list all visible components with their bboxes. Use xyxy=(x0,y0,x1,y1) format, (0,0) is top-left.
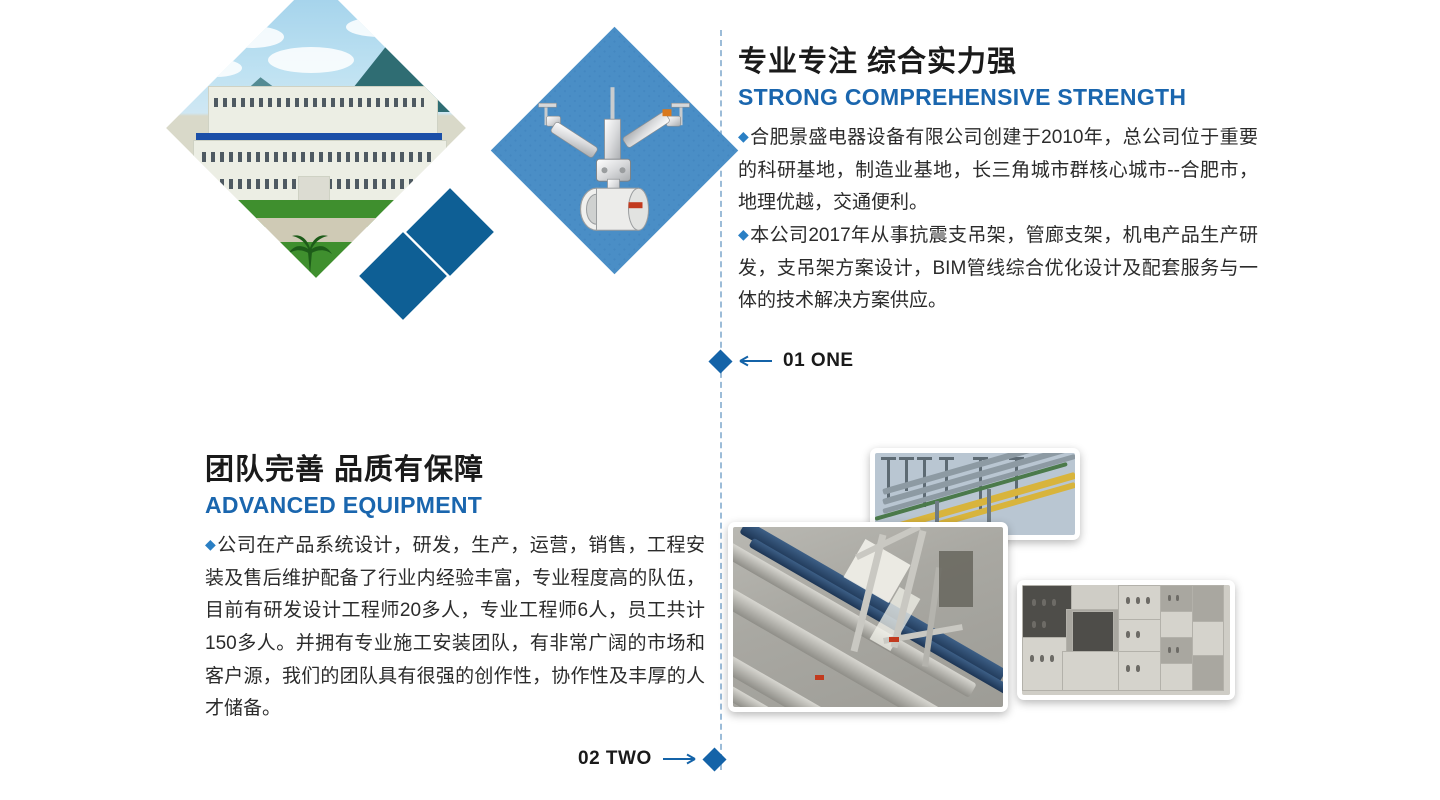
collage-photo-left xyxy=(728,522,1008,712)
section-one-paragraph-1: ◆合肥景盛电器设备有限公司创建于2010年，总公司位于重要的科研基地，制造业基地… xyxy=(738,122,1258,220)
section-one-title-cn: 专业专注 综合实力强 xyxy=(738,44,1258,80)
section-one-text: 专业专注 综合实力强 STRONG COMPREHENSIVE STRENGTH… xyxy=(738,44,1258,318)
poster-canvas: 专业专注 综合实力强 STRONG COMPREHENSIVE STRENGTH… xyxy=(0,0,1440,800)
arrow-left-icon xyxy=(739,355,773,367)
section-two-text: 团队完善 品质有保障 ADVANCED EQUIPMENT ◆公司在产品系统设计… xyxy=(205,452,705,726)
step-marker-two[interactable]: 02 TWO xyxy=(578,748,723,770)
section-two-paragraph-1: ◆公司在产品系统设计，研发，生产，运营，销售，工程安装及售后维护配备了行业内经验… xyxy=(205,530,705,726)
collage-photo-right xyxy=(1017,580,1235,700)
bullet-diamond-icon: ◆ xyxy=(738,128,749,144)
section-two-title-en: ADVANCED EQUIPMENT xyxy=(205,491,705,520)
section-one-title-en: STRONG COMPREHENSIVE STRENGTH xyxy=(738,83,1258,112)
section-two-body: ◆公司在产品系统设计，研发，生产，运营，销售，工程安装及售后维护配备了行业内经验… xyxy=(205,530,705,726)
diamond-marker-icon xyxy=(708,349,732,373)
section-one-paragraph-2: ◆本公司2017年从事抗震支吊架，管廊支架，机电产品生产研发，支吊架方案设计，B… xyxy=(738,220,1258,318)
palm-tree xyxy=(286,230,334,274)
diamond-marker-icon xyxy=(702,747,726,771)
step-one-label: 01 ONE xyxy=(783,350,854,372)
section-one-body: ◆合肥景盛电器设备有限公司创建于2010年，总公司位于重要的科研基地，制造业基地… xyxy=(738,122,1258,318)
step-two-label: 02 TWO xyxy=(578,748,652,770)
diamond-image-group xyxy=(190,15,730,405)
paragraph-text: 合肥景盛电器设备有限公司创建于2010年，总公司位于重要的科研基地，制造业基地，… xyxy=(738,127,1258,213)
section-two-title-cn: 团队完善 品质有保障 xyxy=(205,452,705,488)
cable-tray-stack-photo xyxy=(1022,585,1230,695)
paragraph-text: 公司在产品系统设计，研发，生产，运营，销售，工程安装及售后维护配备了行业内经验丰… xyxy=(205,535,705,719)
paragraph-text: 本公司2017年从事抗震支吊架，管廊支架，机电产品生产研发，支吊架方案设计，BI… xyxy=(738,225,1258,311)
installed-pipe-support-photo xyxy=(733,527,1003,707)
photo-collage xyxy=(720,440,1250,740)
product-photo-diamond xyxy=(491,27,738,274)
arrow-right-icon xyxy=(662,753,696,765)
seismic-brace-product-photo xyxy=(525,69,705,234)
step-marker-one[interactable]: 01 ONE xyxy=(712,350,854,372)
bullet-diamond-icon: ◆ xyxy=(205,536,216,552)
bullet-diamond-icon: ◆ xyxy=(738,226,749,242)
